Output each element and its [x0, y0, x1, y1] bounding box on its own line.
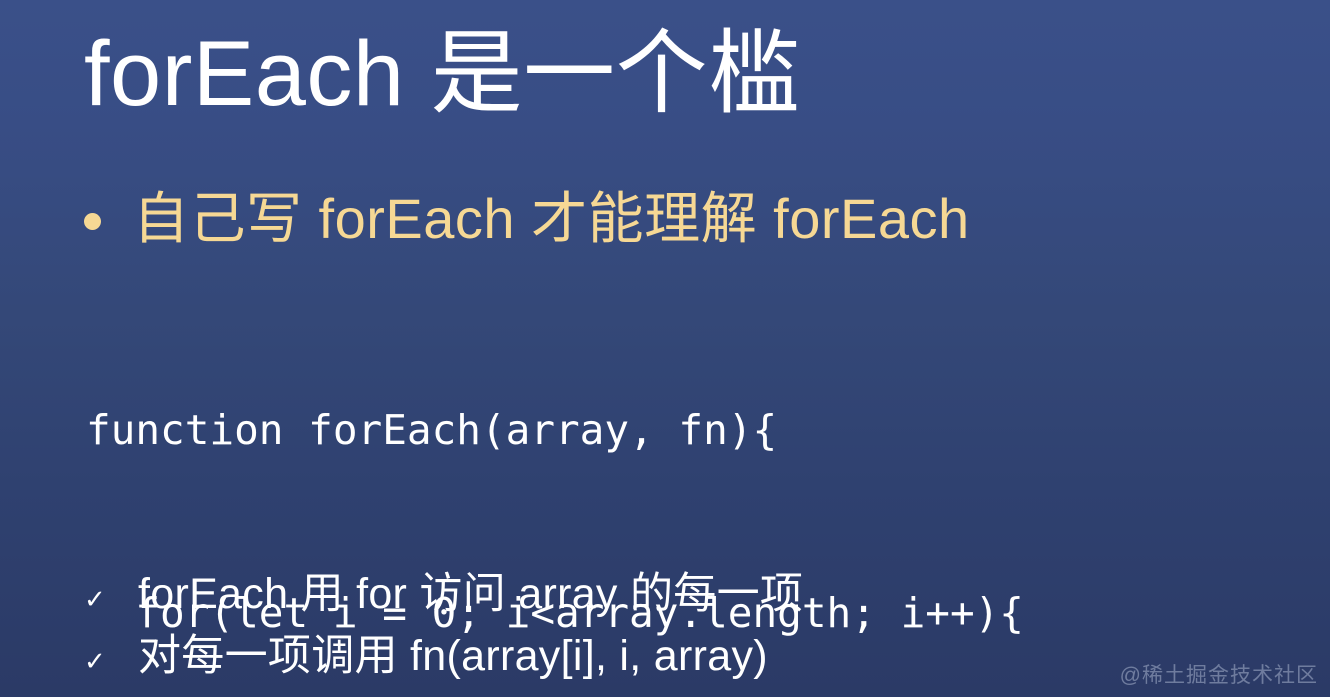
- slide-canvas: forEach 是一个槛 自己写 forEach 才能理解 forEach fu…: [0, 0, 1330, 697]
- check-list-item: ✓ forEach 用 for 访问 array 的每一项: [84, 572, 803, 634]
- check-list-item-label: 对每一项调用 fn(array[i], i, array): [138, 634, 768, 679]
- bullet-dot-icon: [84, 213, 101, 230]
- slide-title: forEach 是一个槛: [84, 22, 801, 128]
- check-list-item: ✓ 对每一项调用 fn(array[i], i, array): [84, 634, 803, 696]
- primary-bullet-label: 自己写 forEach 才能理解 forEach: [133, 188, 970, 251]
- code-line: function forEach(array, fn){: [86, 400, 1024, 461]
- primary-bullet-row: 自己写 forEach 才能理解 forEach: [84, 188, 970, 251]
- check-icon: ✓: [84, 586, 112, 612]
- check-list: ✓ forEach 用 for 访问 array 的每一项 ✓ 对每一项调用 f…: [84, 572, 803, 696]
- check-icon: ✓: [84, 648, 112, 674]
- watermark: @稀土掘金技术社区: [1120, 659, 1318, 689]
- check-list-item-label: forEach 用 for 访问 array 的每一项: [138, 572, 803, 617]
